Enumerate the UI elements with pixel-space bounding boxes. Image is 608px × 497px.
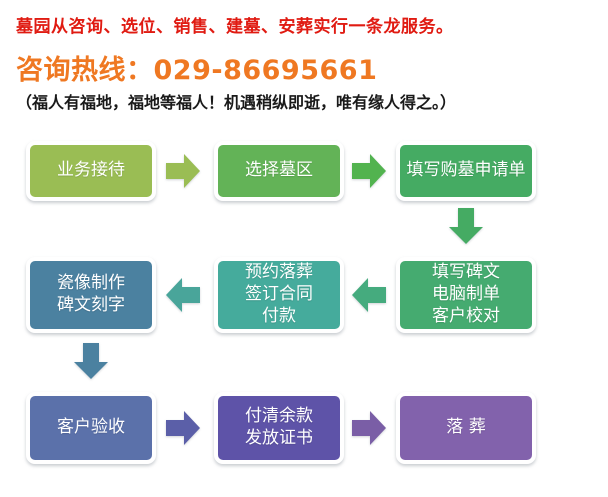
arrow-epitaph-to-booking-icon [352, 276, 386, 314]
flow-box-fill-epitaph[interactable]: 填写碑文 电脑制单 客户校对 [396, 257, 536, 333]
arrow-form-to-epitaph-icon [447, 208, 485, 244]
flow-box-business-reception[interactable]: 业务接待 [26, 141, 156, 201]
hotline-phone-number: 咨询热线：029-86695661 [16, 48, 377, 87]
flow-box-porcelain-portrait[interactable]: 瓷像制作 碑文刻字 [26, 257, 156, 333]
arrow-payment-to-burial-icon [352, 409, 386, 447]
arrow-accept-to-payment-icon [166, 409, 200, 447]
arrow-reception-to-area-icon [166, 152, 200, 190]
flow-box-fill-purchase-form[interactable]: 填写购墓申请单 [396, 141, 536, 201]
arrow-area-to-form-icon [352, 152, 386, 190]
arrow-portrait-to-accept-icon [72, 343, 110, 379]
flow-box-select-cemetery-area[interactable]: 选择墓区 [214, 141, 344, 201]
flow-box-book-burial[interactable]: 预约落葬 签订合同 付款 [214, 257, 344, 333]
arrow-booking-to-portrait-icon [166, 276, 200, 314]
flow-box-burial[interactable]: 落 葬 [396, 392, 536, 464]
flow-box-pay-balance[interactable]: 付清余款 发放证书 [214, 392, 344, 464]
headline-service-statement: 墓园从咨询、选位、销售、建墓、安葬实行一条龙服务。 [16, 12, 454, 37]
tagline-slogan: （福人有福地，福地等福人！机遇稍纵即逝，唯有缘人得之。） [16, 89, 456, 113]
flowchart-page: 墓园从咨询、选位、销售、建墓、安葬实行一条龙服务。 咨询热线：029-86695… [0, 0, 608, 497]
flow-box-customer-acceptance[interactable]: 客户验收 [26, 392, 156, 464]
